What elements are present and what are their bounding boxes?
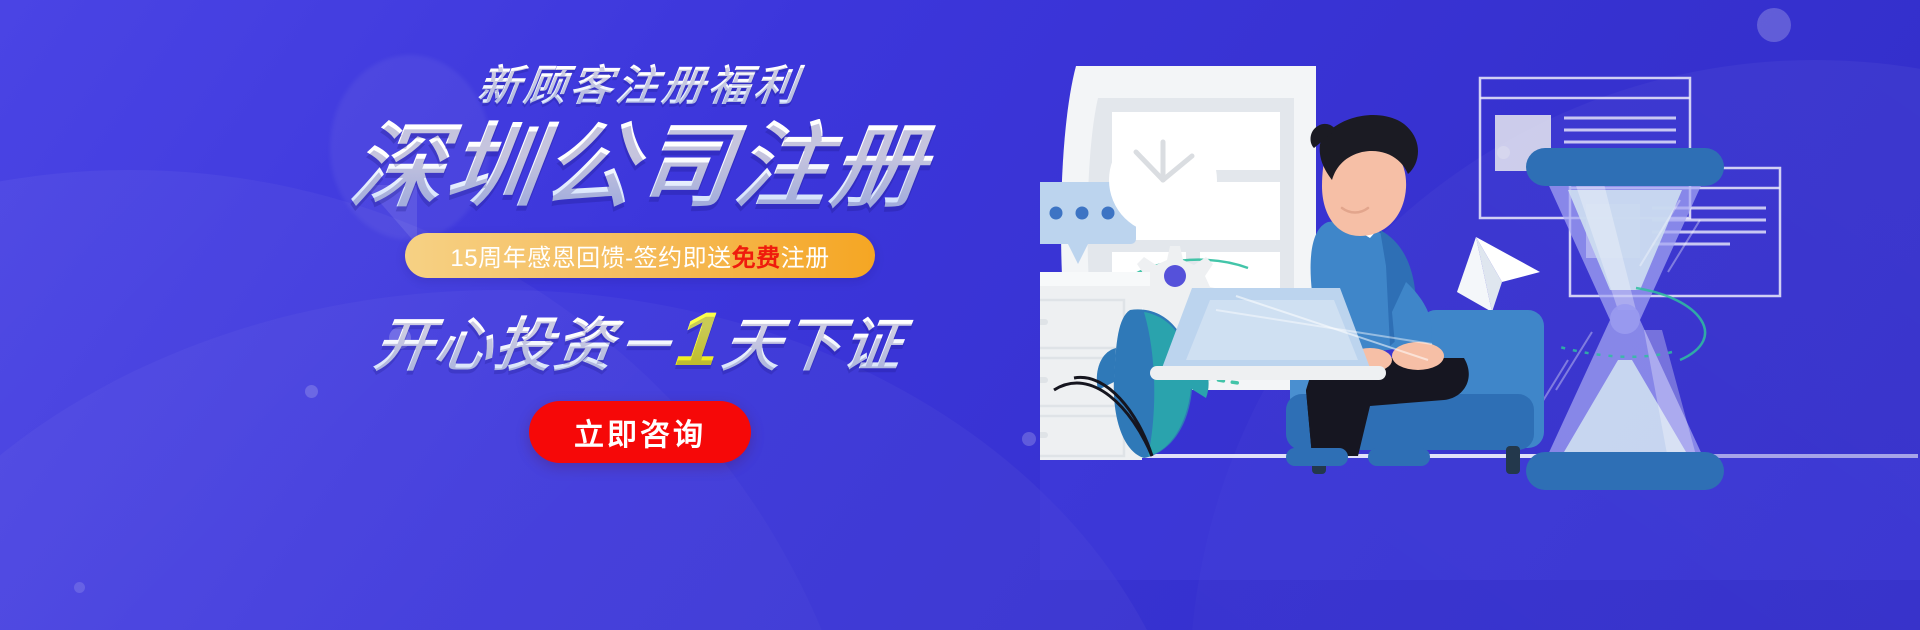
consult-now-button[interactable]: 立即咨询 <box>529 401 751 463</box>
hourglass-icon <box>1526 148 1724 490</box>
hero-illustration <box>1040 60 1920 580</box>
paper-plane-icon <box>1457 237 1540 312</box>
offer-badge-prefix: 15周年感恩回馈-签约即送 <box>450 238 731 273</box>
tagline-before: 开心投资－ <box>370 298 682 382</box>
tagline-after: 天下证 <box>718 298 910 382</box>
page-title: 深圳公司注册 <box>323 119 957 217</box>
kicker-text: 新顾客注册福利 <box>326 52 955 113</box>
offer-badge-suffix: 注册 <box>781 238 830 273</box>
wall-clock-icon <box>1109 126 1217 234</box>
tagline: 开心投资－ 1 天下证 <box>324 296 956 383</box>
offer-badge: 15周年感恩回馈-签约即送 免费 注册 <box>405 233 875 278</box>
promo-banner: 新顾客注册福利 深圳公司注册 15周年感恩回馈-签约即送 免费 注册 开心投资－… <box>0 0 1920 630</box>
circle-decoration <box>305 385 318 398</box>
circle-decoration <box>1757 8 1791 42</box>
circle-decoration <box>1022 432 1036 446</box>
floor-surface <box>1040 458 1920 580</box>
circle-decoration <box>74 582 85 593</box>
offer-badge-highlight: 免费 <box>732 238 781 273</box>
promo-copy-block: 新顾客注册福利 深圳公司注册 15周年感恩回馈-签约即送 免费 注册 开心投资－… <box>330 52 950 463</box>
